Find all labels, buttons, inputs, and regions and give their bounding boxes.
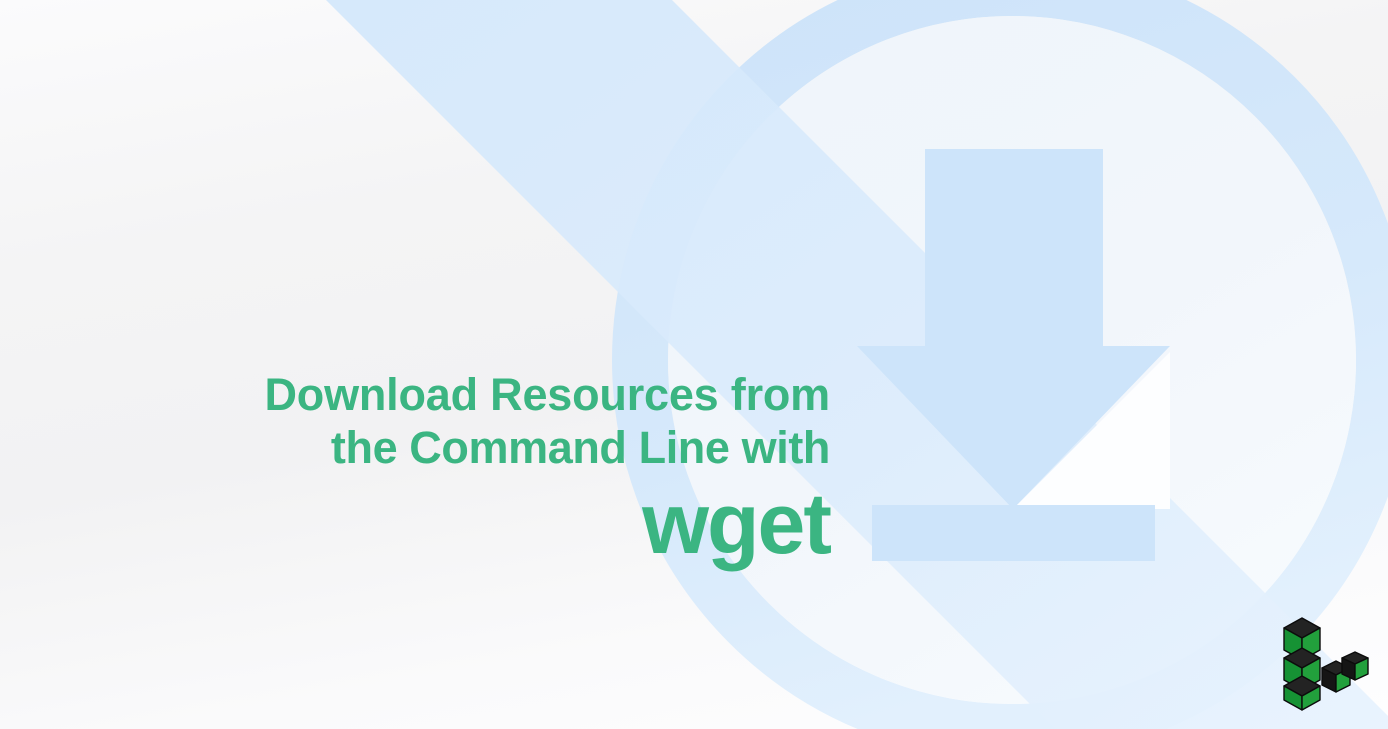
download-arrow-stem	[925, 149, 1103, 349]
brand-wordmark: wget	[60, 478, 830, 570]
decorative-diagonal-band	[286, 0, 1388, 729]
headline-line-1: Download Resources from	[60, 368, 830, 421]
icon-notch-triangle	[1013, 352, 1170, 509]
slide-canvas: Download Resources from the Command Line…	[0, 0, 1388, 729]
download-tray-bar	[872, 505, 1155, 561]
logo-cube-arm-outer	[1342, 652, 1368, 680]
headline-block: Download Resources from the Command Line…	[60, 368, 830, 570]
isometric-cubes-logo	[1278, 606, 1370, 714]
decorative-circle-fill	[668, 16, 1356, 704]
decorative-circle-ring	[640, 0, 1384, 729]
background-artwork	[0, 0, 1388, 729]
download-arrow-head	[857, 346, 1170, 509]
headline-line-2: the Command Line with	[60, 421, 830, 474]
